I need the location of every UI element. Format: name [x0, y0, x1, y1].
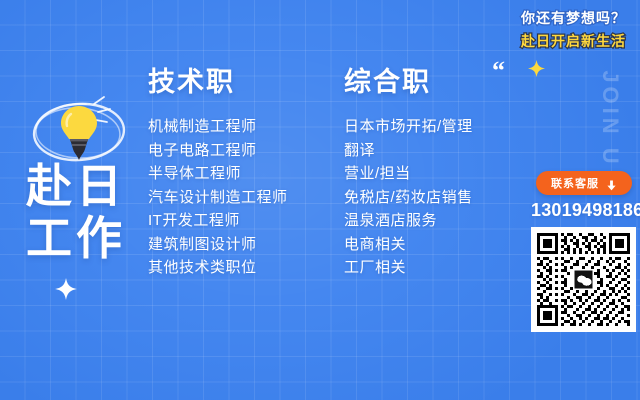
list-item: 翻译: [344, 139, 473, 163]
list-item: 机械制造工程师: [148, 115, 288, 139]
column-heading-tech: 技术职: [148, 60, 288, 99]
qr-code-icon[interactable]: [531, 227, 636, 332]
page-title: 赴日 工作: [26, 160, 126, 264]
slogan-secondary: 赴日开启新生活: [521, 31, 626, 51]
list-item: 电商相关: [344, 233, 473, 257]
quote-icon: “: [492, 58, 505, 84]
page-title-line1: 赴日: [26, 160, 126, 212]
contact-support-label: 联系客服: [551, 175, 599, 191]
list-item: 电子电路工程师: [148, 139, 288, 163]
sparkle-icon: [55, 278, 77, 300]
arrow-down-icon: [606, 178, 617, 189]
contact-support-button[interactable]: 联系客服: [536, 171, 632, 195]
job-list-tech: 机械制造工程师 电子电路工程师 半导体工程师 汽车设计制造工程师 IT开发工程师…: [148, 115, 288, 280]
list-item: 建筑制图设计师: [148, 233, 288, 257]
job-column-tech: 技术职 机械制造工程师 电子电路工程师 半导体工程师 汽车设计制造工程师 IT开…: [148, 60, 288, 280]
list-item: IT开发工程师: [148, 209, 288, 233]
page-title-line2: 工作: [26, 212, 126, 264]
list-item: 半导体工程师: [148, 162, 288, 186]
list-item: 温泉酒店服务: [344, 209, 473, 233]
list-item: 其他技术类职位: [148, 256, 288, 280]
vertical-join-us-text: JOIN U: [597, 59, 623, 179]
slogan-primary: 你还有梦想吗？: [521, 8, 626, 28]
list-item: 汽车设计制造工程师: [148, 186, 288, 210]
list-item: 日本市场开拓/管理: [344, 115, 473, 139]
star-icon: [528, 60, 545, 77]
column-heading-general: 综合职: [344, 60, 473, 99]
list-item: 营业/担当: [344, 162, 473, 186]
poster-canvas: 赴日 工作 技术职 机械制造工程师 电子电路工程师 半导体工程师 汽车设计制造工…: [0, 0, 640, 400]
job-column-general: 综合职 日本市场开拓/管理 翻译 营业/担当 免税店/药妆店销售 温泉酒店服务 …: [344, 60, 473, 280]
job-list-general: 日本市场开拓/管理 翻译 营业/担当 免税店/药妆店销售 温泉酒店服务 电商相关…: [344, 115, 473, 280]
list-item: 工厂相关: [344, 256, 473, 280]
list-item: 免税店/药妆店销售: [344, 186, 473, 210]
phone-number: 13019498186: [531, 200, 637, 221]
